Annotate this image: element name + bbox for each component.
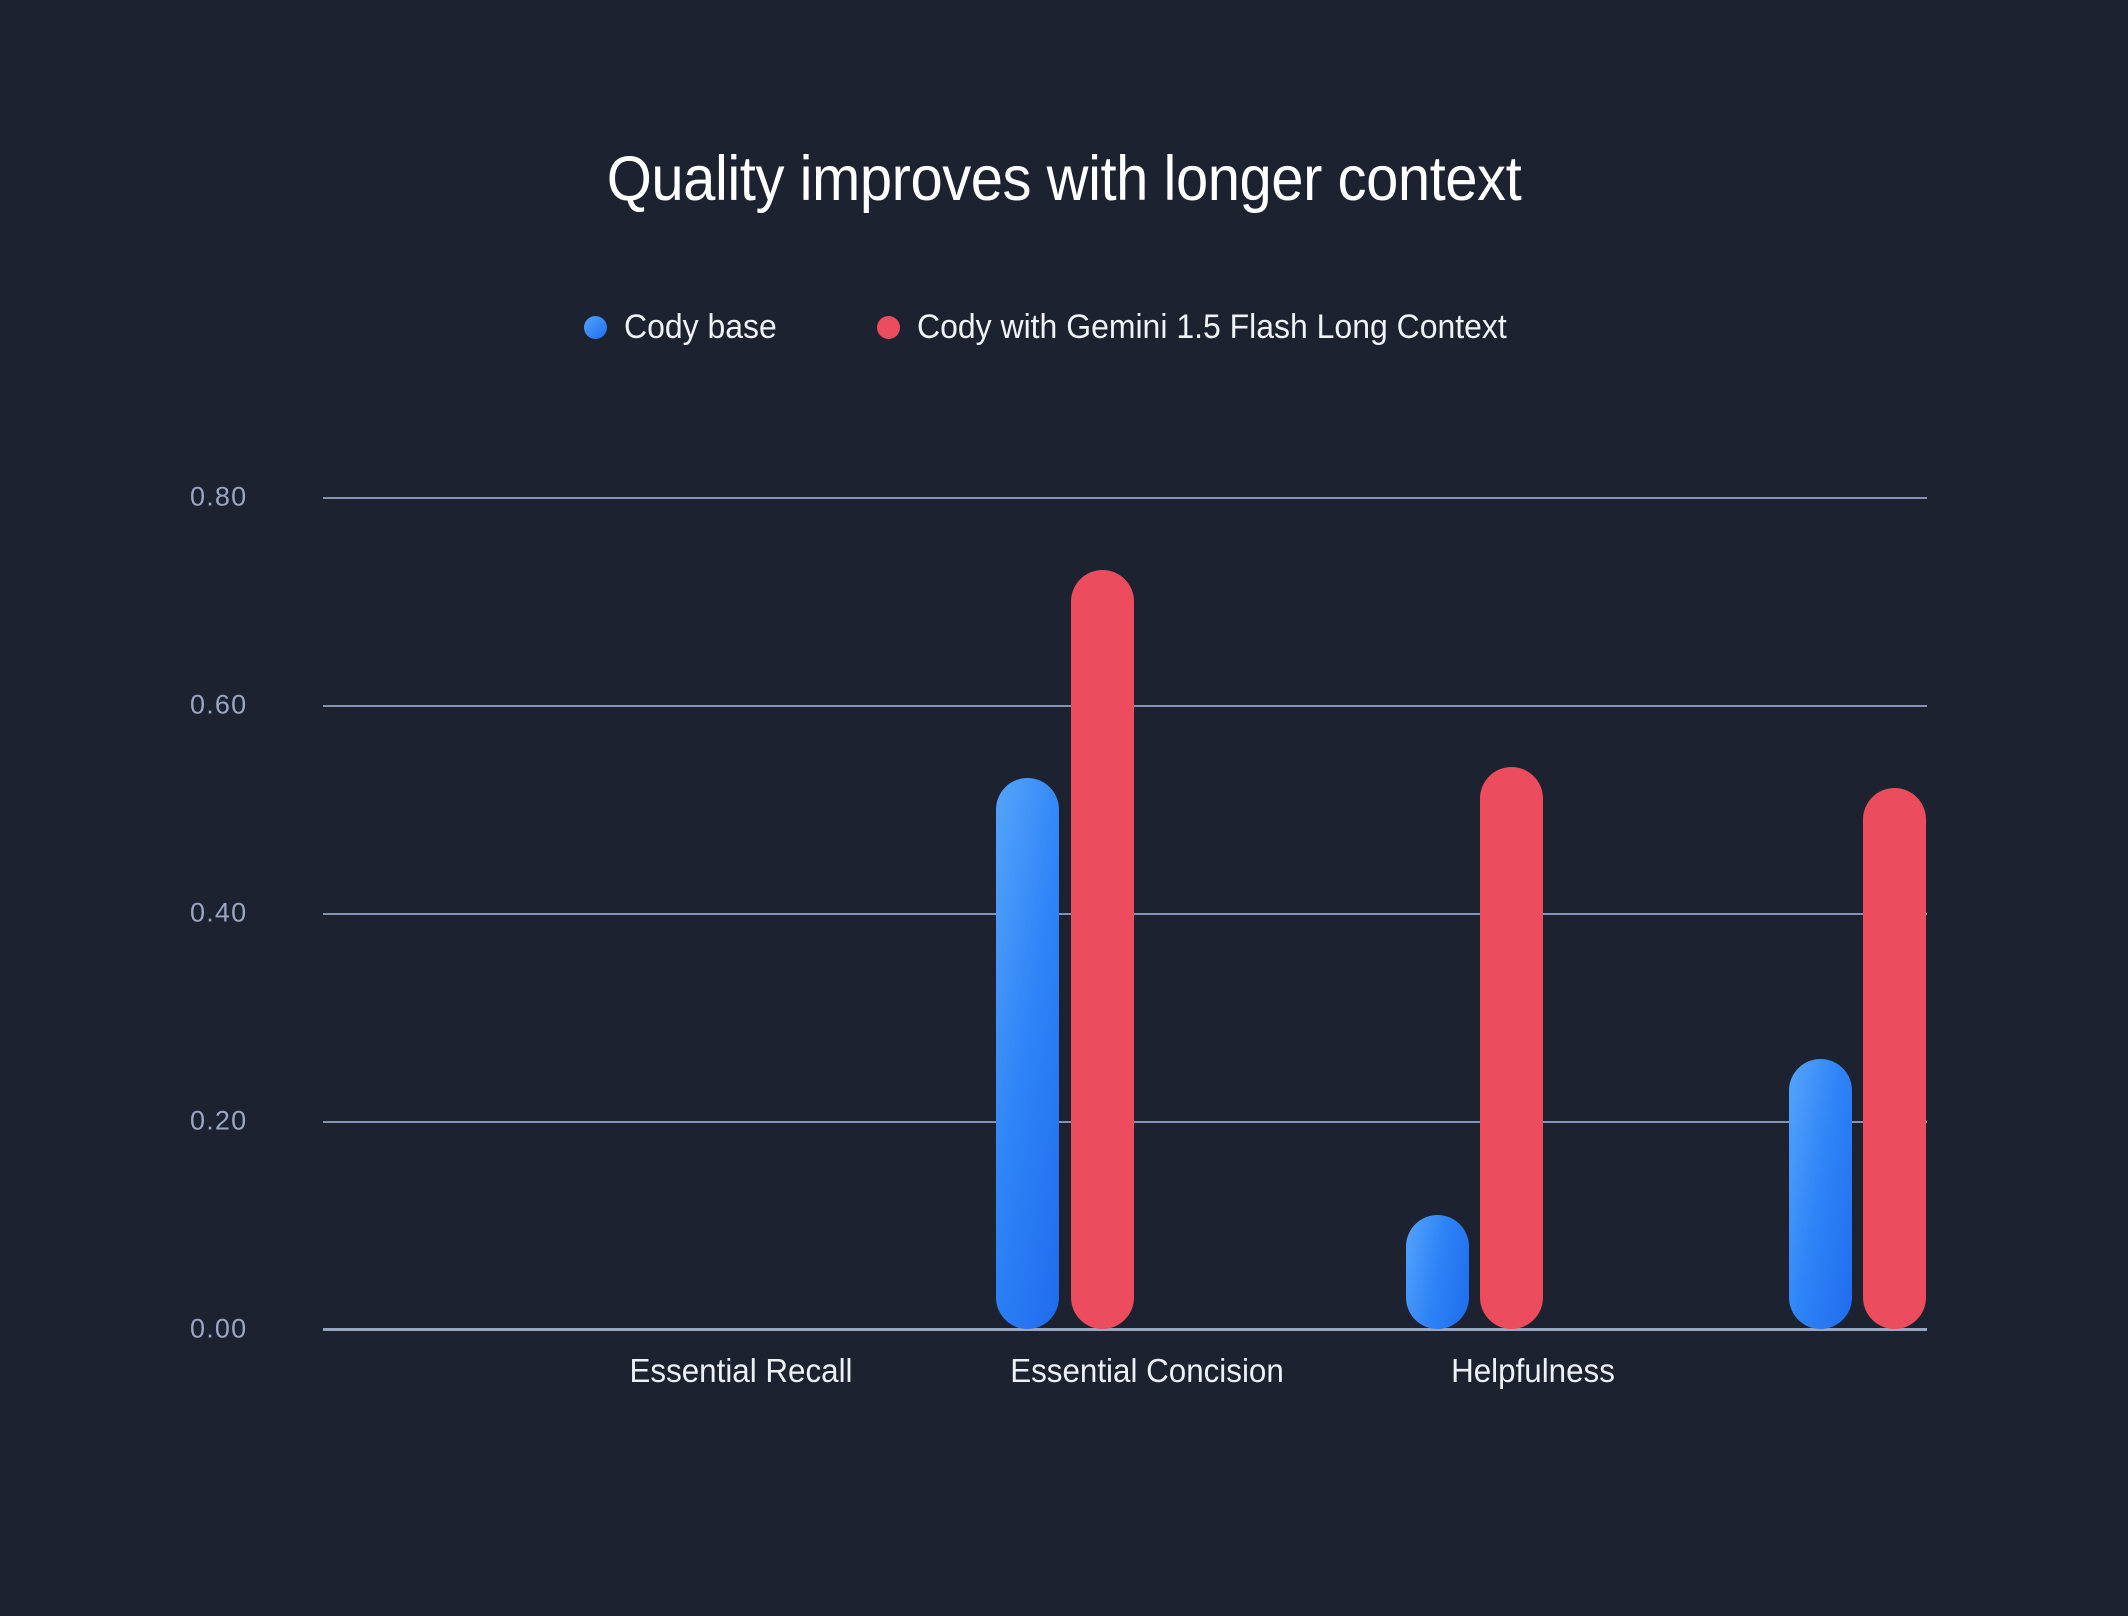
y-axis-tick-label: 0.60 (190, 690, 340, 721)
chart-title: Quality improves with longer context (85, 143, 2043, 215)
bar-cody-gemini-essential-concision[interactable] (1480, 767, 1543, 1329)
y-axis-tick-label: 0.40 (190, 898, 340, 929)
x-axis-tick-label-essential-concision: Essential Concision (1010, 1352, 1284, 1390)
y-axis-tick-label: 0.80 (190, 482, 340, 513)
chart-canvas: Quality improves with longer context Cod… (0, 0, 2128, 1616)
bar-cody-gemini-essential-recall[interactable] (1071, 570, 1134, 1329)
circle-marker-blue-icon (584, 316, 607, 339)
y-axis-tick-label: 0.20 (190, 1106, 340, 1137)
plot-area (323, 497, 1927, 1329)
legend-label: Cody with Gemini 1.5 Flash Long Context (917, 308, 1507, 347)
legend-label: Cody base (624, 308, 777, 347)
x-axis-tick-label-essential-recall: Essential Recall (629, 1352, 852, 1390)
legend-item-cody-base[interactable]: Cody base (584, 308, 787, 347)
chart-legend: Cody base Cody with Gemini 1.5 Flash Lon… (0, 308, 2128, 347)
bar-cody-base-essential-concision[interactable] (1406, 1215, 1469, 1329)
y-axis-tick-label: 0.00 (190, 1314, 340, 1345)
legend-item-cody-gemini-long-context[interactable]: Cody with Gemini 1.5 Flash Long Context (877, 308, 1544, 347)
x-axis: Essential Recall Essential Concision Hel… (323, 1352, 1927, 1412)
bar-cody-gemini-helpfulness[interactable] (1863, 788, 1926, 1329)
bar-series-container (323, 497, 1927, 1329)
circle-marker-red-icon (877, 316, 900, 339)
bar-cody-base-helpfulness[interactable] (1789, 1059, 1852, 1329)
bar-cody-base-essential-recall[interactable] (996, 778, 1059, 1329)
x-axis-tick-label-helpfulness: Helpfulness (1451, 1352, 1615, 1390)
